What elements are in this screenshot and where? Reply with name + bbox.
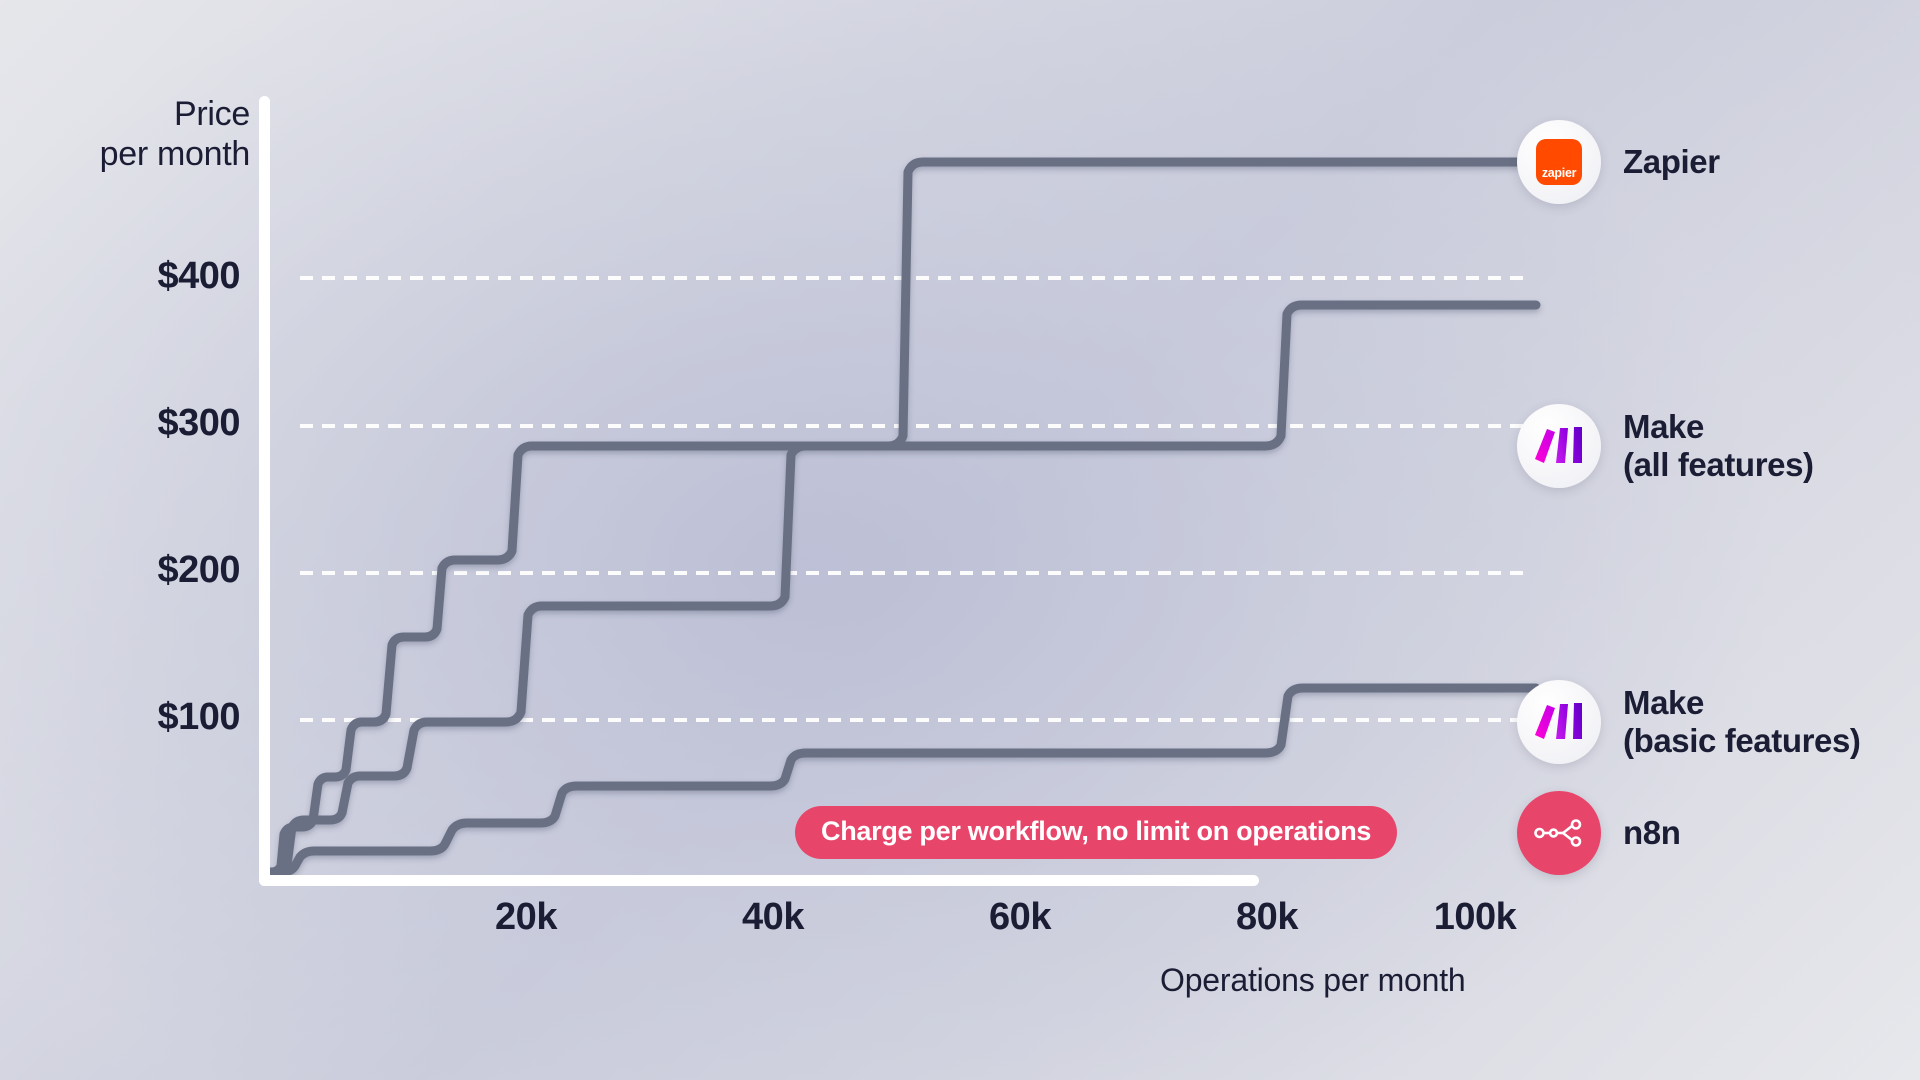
legend-label-zapier-line1: Zapier <box>1623 143 1720 181</box>
x-tick-80k: 80k <box>1236 896 1298 939</box>
x-tick-100k: 100k <box>1434 896 1517 939</box>
y-axis-title-line2: per month <box>0 135 250 175</box>
y-axis-line <box>259 96 270 886</box>
legend-item-make-all[interactable]: Make (all features) <box>1517 404 1814 488</box>
x-tick-40k: 40k <box>742 896 804 939</box>
n8n-nodes-icon <box>1533 817 1585 849</box>
x-axis-line <box>259 875 1259 886</box>
series-line-zapier <box>268 162 1536 872</box>
legend-label-zapier: Zapier <box>1623 143 1720 181</box>
n8n-annotation-badge: Charge per workflow, no limit on operati… <box>795 806 1397 859</box>
y-tick-200: $200 <box>157 549 240 592</box>
y-axis-title-line1: Price <box>0 95 250 135</box>
legend-item-zapier[interactable]: zapier Zapier <box>1517 120 1720 204</box>
x-tick-20k: 20k <box>495 896 557 939</box>
n8n-logo-icon <box>1517 791 1601 875</box>
make-bars-icon <box>1533 423 1585 469</box>
legend-label-make-basic-line1: Make <box>1623 684 1861 722</box>
x-tick-60k: 60k <box>989 896 1051 939</box>
legend-label-make-basic-line2: (basic features) <box>1623 722 1861 760</box>
chart-stage: Price per month $400 $300 $200 $100 20k … <box>0 0 1920 1080</box>
make-logo-icon <box>1517 404 1601 488</box>
legend-label-make-all: Make (all features) <box>1623 408 1814 485</box>
legend-label-make-basic: Make (basic features) <box>1623 684 1861 761</box>
y-tick-400: $400 <box>157 255 240 298</box>
make-logo-icon <box>1517 680 1601 764</box>
y-tick-300: $300 <box>157 402 240 445</box>
make-bars-icon <box>1533 699 1585 745</box>
legend-item-make-basic[interactable]: Make (basic features) <box>1517 680 1861 764</box>
y-tick-100: $100 <box>157 696 240 739</box>
zapier-logo-icon: zapier <box>1517 120 1601 204</box>
zapier-wordmark: zapier <box>1542 166 1576 180</box>
x-axis-title: Operations per month <box>1160 962 1466 999</box>
legend-item-n8n[interactable]: n8n <box>1517 791 1680 875</box>
legend-label-make-all-line1: Make <box>1623 408 1814 446</box>
zapier-square-icon: zapier <box>1536 139 1582 185</box>
legend-label-n8n: n8n <box>1623 814 1680 852</box>
legend-label-make-all-line2: (all features) <box>1623 446 1814 484</box>
y-axis-title: Price per month <box>0 95 250 175</box>
legend-label-n8n-line1: n8n <box>1623 814 1680 852</box>
